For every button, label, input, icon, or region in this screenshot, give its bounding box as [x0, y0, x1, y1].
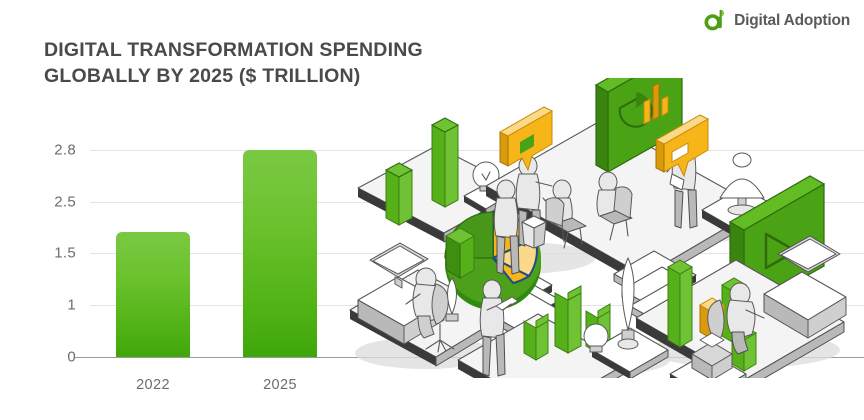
x-tick-label-2022: 2022 — [93, 377, 213, 393]
isometric-workplace-illustration: .pl{fill:#f4f4f4;stroke:#575757;stroke-w… — [340, 78, 864, 378]
bar-2025[interactable] — [243, 150, 317, 357]
y-tick-label: 1 — [20, 297, 76, 314]
x-tick-label-2025: 2025 — [220, 377, 340, 393]
bar-2022[interactable] — [116, 232, 190, 357]
y-tick-label: 1.5 — [20, 245, 76, 262]
infographic-root: Digital Adoption DIGITAL TRANSFORMATION … — [0, 0, 864, 420]
y-tick-label: 2.8 — [20, 142, 76, 159]
y-tick-label: 2.5 — [20, 194, 76, 211]
y-tick-label: 0 — [20, 349, 76, 366]
